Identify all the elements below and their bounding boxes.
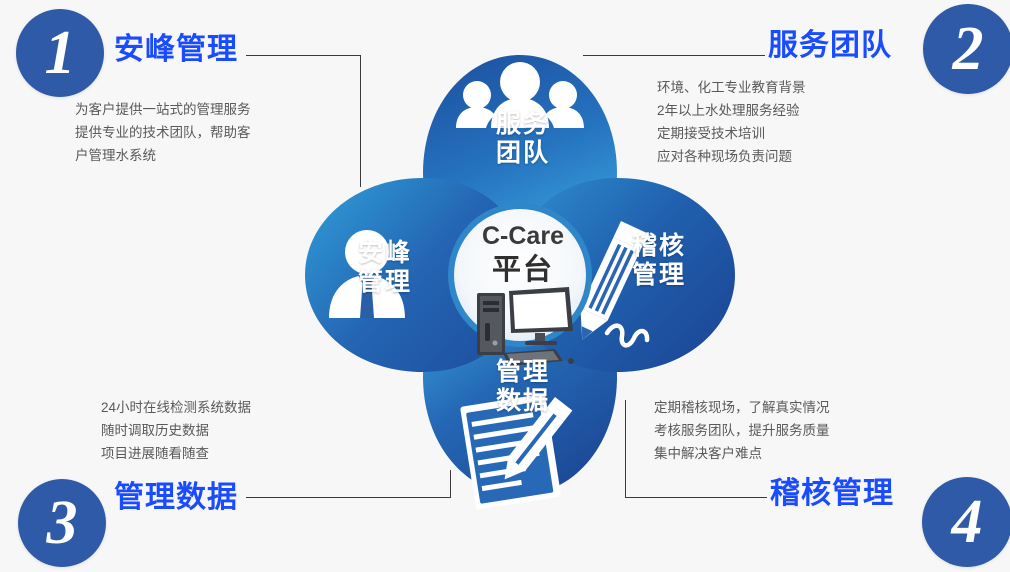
body-line: 定期接受技术培训 — [657, 122, 806, 145]
petal-left-label: 安峰 管理 — [345, 239, 425, 297]
section-2-title: 服务团队 — [768, 20, 892, 64]
body-line: 集中解决客户难点 — [654, 442, 830, 465]
body-line: 环境、化工专业教育背景 — [657, 76, 806, 99]
section-1-title: 安峰管理 — [114, 24, 238, 68]
petal-top-label: 服务 团队 — [478, 110, 568, 168]
petal-right-label-line1: 稽核 — [619, 232, 699, 261]
body-line: 户管理水系统 — [75, 144, 251, 167]
body-line: 24小时在线检测系统数据 — [101, 396, 251, 419]
body-line: 项目进展随看随查 — [101, 442, 251, 465]
petal-right-label: 稽核 管理 — [619, 232, 699, 290]
body-line: 应对各种现场负责问题 — [657, 145, 806, 168]
hub-chinese-title: 平台 — [460, 246, 586, 288]
number-badge-1: 1 — [16, 9, 104, 97]
infographic-canvas: 服务 团队 稽核 管理 管理 数据 安峰 管理 C-Care 平台 1 2 3 … — [0, 0, 1010, 572]
body-line: 定期稽核现场，了解真实情况 — [654, 396, 830, 419]
section-3-body: 24小时在线检测系统数据随时调取历史数据项目进展随看随查 — [101, 396, 251, 465]
body-line: 为客户提供一站式的管理服务 — [75, 98, 251, 121]
section-3-title: 管理数据 — [114, 472, 238, 516]
petal-bottom-label: 管理 数据 — [478, 358, 568, 416]
petal-left-label-line2: 管理 — [345, 268, 425, 297]
petal-bottom-label-line2: 数据 — [478, 387, 568, 416]
body-line: 随时调取历史数据 — [101, 419, 251, 442]
number-badge-4: 4 — [922, 477, 1010, 567]
section-4-title: 稽核管理 — [770, 468, 894, 512]
body-line: 提供专业的技术团队，帮助客 — [75, 121, 251, 144]
body-line: 2年以上水处理服务经验 — [657, 99, 806, 122]
petal-top-label-line2: 团队 — [478, 139, 568, 168]
petal-top-label-line1: 服务 — [478, 110, 568, 139]
section-1-body: 为客户提供一站式的管理服务提供专业的技术团队，帮助客户管理水系统 — [75, 98, 251, 167]
body-line: 考核服务团队，提升服务质量 — [654, 419, 830, 442]
section-2-body: 环境、化工专业教育背景2年以上水处理服务经验定期接受技术培训应对各种现场负责问题 — [657, 76, 806, 168]
petal-bottom-label-line1: 管理 — [478, 358, 568, 387]
petal-right-label-line2: 管理 — [619, 261, 699, 290]
number-badge-2: 2 — [923, 4, 1010, 94]
section-4-body: 定期稽核现场，了解真实情况考核服务团队，提升服务质量集中解决客户难点 — [654, 396, 830, 465]
number-badge-3: 3 — [18, 479, 106, 567]
petal-left-label-line1: 安峰 — [345, 239, 425, 268]
